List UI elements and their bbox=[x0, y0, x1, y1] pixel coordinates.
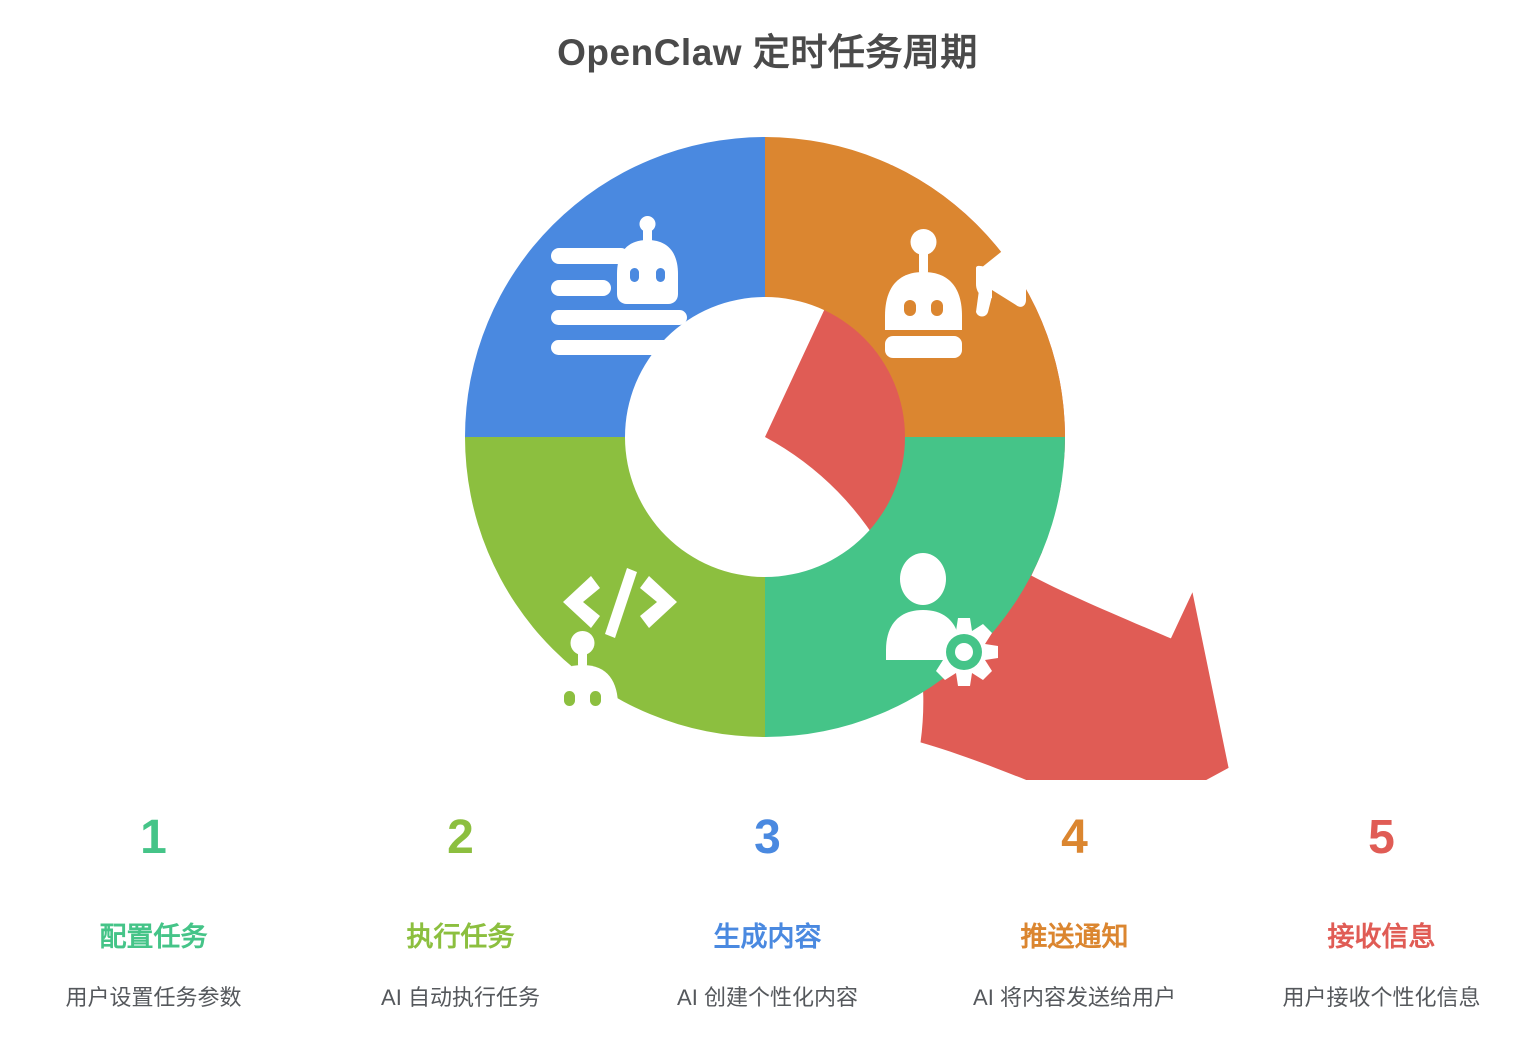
segment-3-generate[interactable] bbox=[465, 137, 765, 437]
legend-item-3[interactable]: 3 生成内容 AI 创建个性化内容 bbox=[614, 800, 921, 1030]
cycle-diagram-svg bbox=[0, 100, 1535, 780]
legend-label-2: 执行任务 bbox=[407, 924, 515, 951]
legend-number-1: 1 bbox=[140, 814, 167, 862]
legend-number-3: 3 bbox=[754, 814, 781, 862]
legend-desc-3: AI 创建个性化内容 bbox=[677, 987, 858, 1009]
legend-item-1[interactable]: 1 配置任务 用户设置任务参数 bbox=[0, 800, 307, 1030]
cycle-diagram bbox=[0, 100, 1535, 780]
legend-item-5[interactable]: 5 接收信息 用户接收个性化信息 bbox=[1228, 800, 1535, 1030]
page-title: OpenClaw 定时任务周期 bbox=[0, 22, 1535, 76]
legend-desc-4: AI 将内容发送给用户 bbox=[973, 987, 1176, 1009]
segment-2-execute[interactable] bbox=[465, 437, 765, 745]
legend-desc-1: 用户设置任务参数 bbox=[65, 987, 241, 1009]
legend: 1 配置任务 用户设置任务参数 2 执行任务 AI 自动执行任务 3 生成内容 … bbox=[0, 800, 1535, 1030]
legend-desc-5: 用户接收个性化信息 bbox=[1282, 987, 1480, 1009]
legend-number-2: 2 bbox=[447, 814, 474, 862]
legend-label-1: 配置任务 bbox=[100, 924, 208, 951]
legend-item-4[interactable]: 4 推送通知 AI 将内容发送给用户 bbox=[921, 800, 1228, 1030]
legend-number-4: 4 bbox=[1061, 814, 1088, 862]
legend-label-3: 生成内容 bbox=[714, 924, 822, 951]
legend-item-2[interactable]: 2 执行任务 AI 自动执行任务 bbox=[307, 800, 614, 1030]
segment-3-shape bbox=[465, 137, 765, 437]
legend-label-5: 接收信息 bbox=[1328, 924, 1436, 951]
legend-label-4: 推送通知 bbox=[1021, 924, 1129, 951]
legend-desc-2: AI 自动执行任务 bbox=[381, 987, 540, 1009]
legend-number-5: 5 bbox=[1368, 814, 1395, 862]
